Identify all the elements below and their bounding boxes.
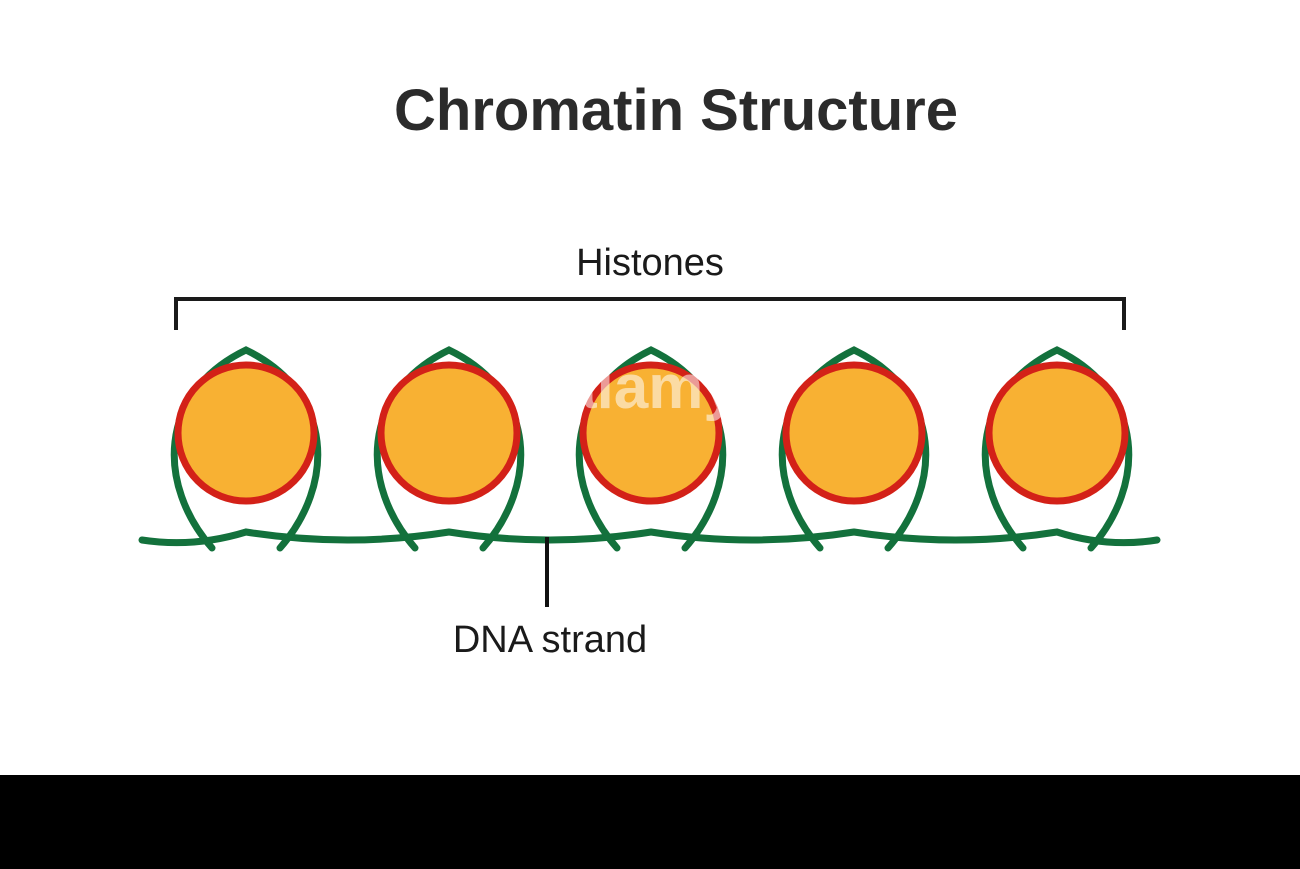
- chromatin-diagram: Chromatin Structure Histones alamyDNA st…: [0, 0, 1300, 775]
- alamy-watermark: alamy: [562, 353, 738, 422]
- histone-core: [381, 365, 517, 501]
- page-title: Chromatin Structure: [394, 78, 958, 143]
- figure-canvas: Chromatin Structure Histones alamyDNA st…: [0, 0, 1300, 869]
- histone-core: [178, 365, 314, 501]
- histone-core: [989, 365, 1125, 501]
- histones-label: Histones: [576, 242, 724, 284]
- histones-bracket: [176, 299, 1124, 328]
- histone-core: [786, 365, 922, 501]
- alamy-footer-bar: alamy Image ID: 2P1X7GW www.alamy.com: [0, 775, 1300, 869]
- dna-strand-label: DNA strand: [453, 619, 647, 661]
